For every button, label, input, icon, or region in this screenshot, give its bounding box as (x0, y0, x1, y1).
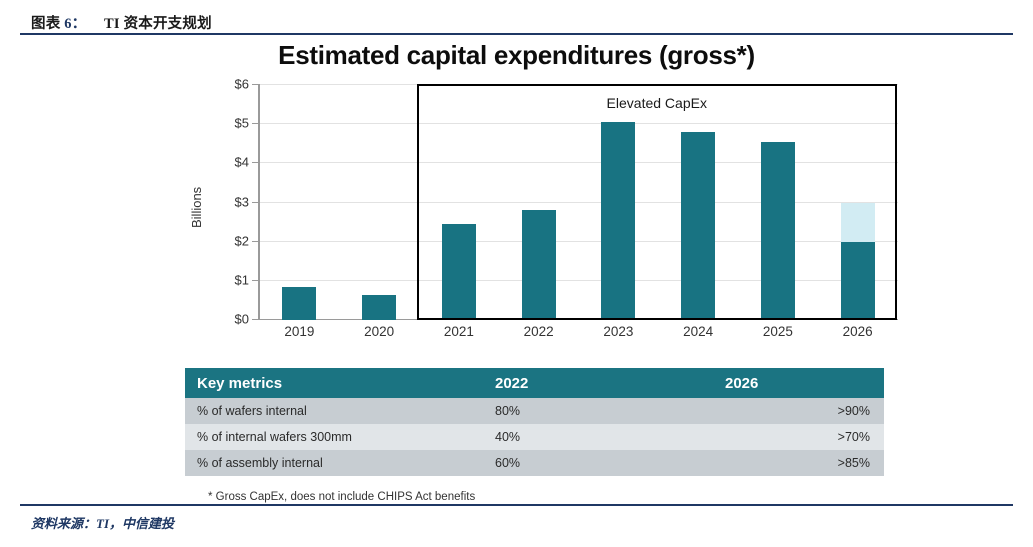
figure-number: 6： (64, 16, 86, 32)
cell-value-2026: >85% (725, 450, 884, 476)
y-axis-tick (252, 280, 258, 281)
y-axis-tick (252, 162, 258, 163)
plot-area: Elevated CapEx (258, 84, 898, 319)
y-axis-tick (252, 241, 258, 242)
figure-title: TI 资本开支规划 (104, 16, 212, 32)
cell-metric: % of wafers internal (185, 398, 487, 424)
figure-label: 图表 (31, 16, 60, 32)
x-tick-label-2020: 2020 (364, 324, 394, 339)
figure-panel: Estimated capital expenditures (gross*) … (20, 36, 1013, 502)
y-tick-label: $0 (235, 312, 249, 327)
bar-chart: Billions $0$1$2$3$4$5$6 Elevated CapEx 2… (175, 84, 1015, 384)
x-tick-label-2023: 2023 (603, 324, 633, 339)
table-row: % of wafers internal80%>90% (185, 398, 884, 424)
x-tick-label-2024: 2024 (683, 324, 713, 339)
table-header-2026: 2026 (725, 368, 884, 398)
y-axis-tick (252, 123, 258, 124)
chart-footnote: * Gross CapEx, does not include CHIPS Ac… (208, 491, 475, 503)
table-row: % of internal wafers 300mm40%>70% (185, 424, 884, 450)
table-header-row: Key metrics 2022 2026 (185, 368, 884, 398)
cell-metric: % of internal wafers 300mm (185, 424, 487, 450)
bar-2020 (362, 295, 396, 320)
chart-title: Estimated capital expenditures (gross*) (20, 40, 1013, 71)
y-axis-tick (252, 202, 258, 203)
table-header-metric: Key metrics (185, 368, 487, 398)
y-tick-label: $1 (235, 272, 249, 287)
x-axis-labels: 20192020202120222023202420252026 (260, 324, 898, 348)
elevated-capex-label: Elevated CapEx (419, 95, 896, 111)
table-body: % of wafers internal80%>90%% of internal… (185, 398, 884, 476)
table-row: % of assembly internal60%>85% (185, 450, 884, 476)
cell-value-2026: >90% (725, 398, 884, 424)
x-tick-label-2019: 2019 (284, 324, 314, 339)
y-axis-tick (252, 84, 258, 85)
bar-slot (260, 84, 340, 320)
bar-2019 (282, 287, 316, 320)
y-tick-label: $2 (235, 233, 249, 248)
cell-value-2022: 40% (487, 424, 725, 450)
cell-value-2022: 60% (487, 450, 725, 476)
footer-divider (20, 504, 1013, 506)
cell-metric: % of assembly internal (185, 450, 487, 476)
header-divider (20, 33, 1013, 35)
y-tick-label: $3 (235, 194, 249, 209)
elevated-capex-box: Elevated CapEx (417, 84, 898, 320)
key-metrics-table: Key metrics 2022 2026 % of wafers intern… (185, 368, 884, 476)
table-header-2022: 2022 (487, 368, 725, 398)
x-tick-label-2025: 2025 (763, 324, 793, 339)
x-tick-label-2022: 2022 (524, 324, 554, 339)
source-note: 资料来源：TI，中信建投 (31, 513, 174, 532)
figure-caption: 图表 6： TI 资本开支规划 (31, 12, 212, 33)
y-axis-tick (252, 319, 258, 320)
y-tick-label: $4 (235, 155, 249, 170)
x-tick-label-2021: 2021 (444, 324, 474, 339)
y-tick-label: $5 (235, 116, 249, 131)
y-tick-label: $6 (235, 77, 249, 92)
cell-value-2022: 80% (487, 398, 725, 424)
y-axis-labels: $0$1$2$3$4$5$6 (201, 84, 249, 329)
cell-value-2026: >70% (725, 424, 884, 450)
x-tick-label-2026: 2026 (843, 324, 873, 339)
bar-slot (339, 84, 419, 320)
